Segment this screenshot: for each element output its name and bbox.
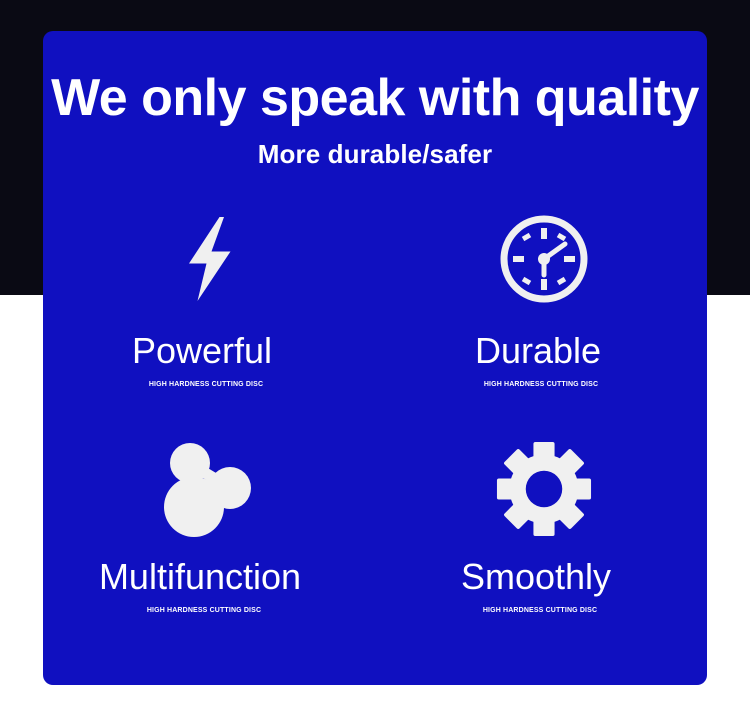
feature-label: Multifunction xyxy=(99,559,301,595)
page-title: We only speak with quality xyxy=(43,70,707,126)
feature-item-smoothly: Smoothly HIGH HARDNESS CUTTING DISC xyxy=(375,441,707,671)
card-header: We only speak with quality More durable/… xyxy=(43,31,707,170)
feature-caption: HIGH HARDNESS CUTTING DISC xyxy=(483,607,597,614)
lightning-bolt-icon xyxy=(183,211,235,307)
gear-icon xyxy=(496,441,592,537)
feature-item-powerful: Powerful HIGH HARDNESS CUTTING DISC xyxy=(43,211,375,441)
feature-label: Durable xyxy=(475,333,601,369)
feature-label: Powerful xyxy=(132,333,272,369)
feature-caption: HIGH HARDNESS CUTTING DISC xyxy=(147,607,261,614)
promo-card: We only speak with quality More durable/… xyxy=(43,31,707,685)
feature-caption: HIGH HARDNESS CUTTING DISC xyxy=(149,381,263,388)
feature-label: Smoothly xyxy=(461,559,611,595)
page-subtitle: More durable/safer xyxy=(43,139,707,170)
molecule-icon xyxy=(159,441,259,537)
feature-item-durable: Durable HIGH HARDNESS CUTTING DISC xyxy=(375,211,707,441)
feature-grid: Powerful HIGH HARDNESS CUTTING DISC xyxy=(43,211,707,671)
feature-caption: HIGH HARDNESS CUTTING DISC xyxy=(484,381,598,388)
clock-icon xyxy=(500,211,588,307)
feature-item-multifunction: Multifunction HIGH HARDNESS CUTTING DISC xyxy=(43,441,375,671)
